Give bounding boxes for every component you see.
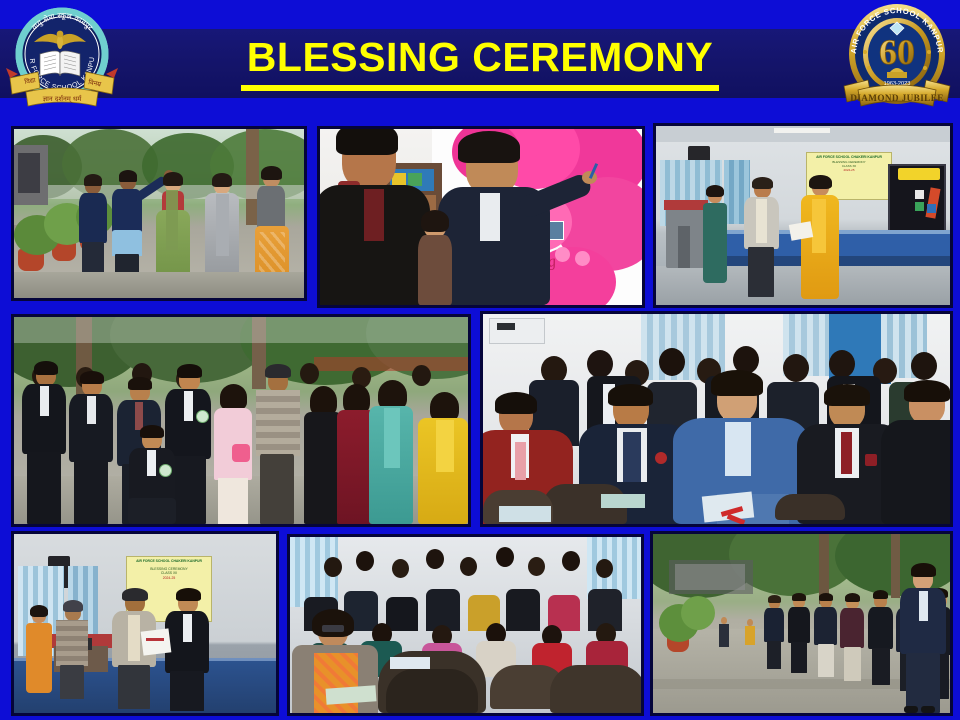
photo-seated-students-in-hall[interactable]: [480, 311, 953, 527]
photo-tilak-welcome-outdoors[interactable]: [11, 126, 307, 301]
diamond-jubilee-emblem-icon: ★ AIR FORCE SCHOOL KANPUR ★ 60 1963-2023…: [838, 2, 956, 114]
photo-hall-address-with-projection[interactable]: AIR FORCE SCHOOL CHAKERI KANPUR BLESSING…: [653, 123, 953, 308]
photo-grid: Blessing Ceremony: [0, 118, 960, 720]
photo-class-group-photo-outdoors[interactable]: [11, 314, 471, 527]
air-force-school-crest-icon: वायु सेना स्कूल कानपुर AIR FORCE SCHOOL …: [4, 2, 120, 114]
blessing-ceremony-poster: BLESSING CEREMONY वायु सेना स्कूल कानपुर…: [0, 0, 960, 720]
title-wrapper: BLESSING CEREMONY: [0, 29, 960, 98]
poster-header: BLESSING CEREMONY वायु सेना स्कूल कानपुर…: [0, 0, 960, 118]
photo-signing-blessing-board[interactable]: Blessing Ceremony: [317, 126, 645, 308]
photo-audience-seated-students[interactable]: [287, 534, 644, 716]
svg-text:ज्ञान दर्शनम् धर्म: ज्ञान दर्शनम् धर्म: [43, 94, 83, 103]
photo-students-lined-up-outdoors[interactable]: [650, 531, 953, 716]
svg-text:DIAMOND JUBILEE: DIAMOND JUBILEE: [850, 93, 944, 103]
page-title: BLESSING CEREMONY: [241, 37, 719, 91]
photo-certificate-handover[interactable]: AIR FORCE SCHOOL CHAKERI KANPUR BLESSING…: [11, 531, 279, 716]
svg-text:60: 60: [879, 32, 915, 72]
